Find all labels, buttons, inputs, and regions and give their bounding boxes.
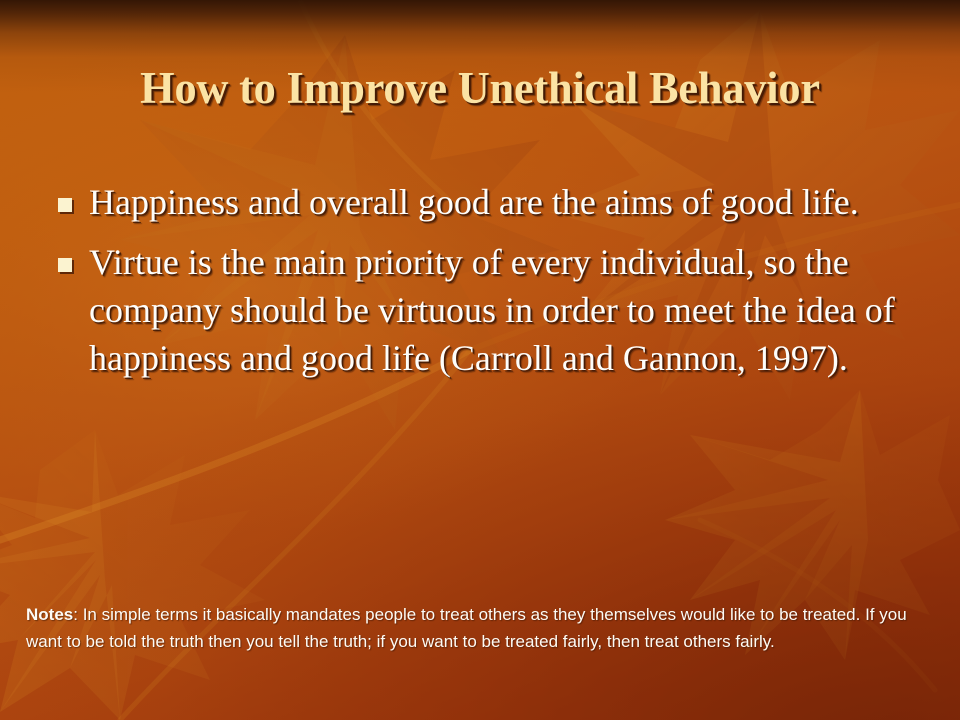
leaf-shape-lower-left (0, 430, 265, 720)
bullet-text: Virtue is the main priority of every ind… (89, 238, 914, 382)
bullet-item: Virtue is the main priority of every ind… (58, 238, 914, 382)
slide-body: Happiness and overall good are the aims … (58, 178, 914, 394)
square-bullet-icon (58, 258, 72, 272)
slide-canvas: How to Improve Unethical Behavior Happin… (0, 0, 960, 720)
slide-notes: Notes: In simple terms it basically mand… (26, 601, 946, 655)
square-bullet-icon (58, 198, 72, 212)
notes-text: In simple terms it basically mandates pe… (26, 605, 907, 651)
bullet-item: Happiness and overall good are the aims … (58, 178, 914, 226)
notes-label: Notes (26, 605, 73, 624)
slide-title: How to Improve Unethical Behavior (7, 62, 953, 114)
bullet-text: Happiness and overall good are the aims … (89, 178, 914, 226)
